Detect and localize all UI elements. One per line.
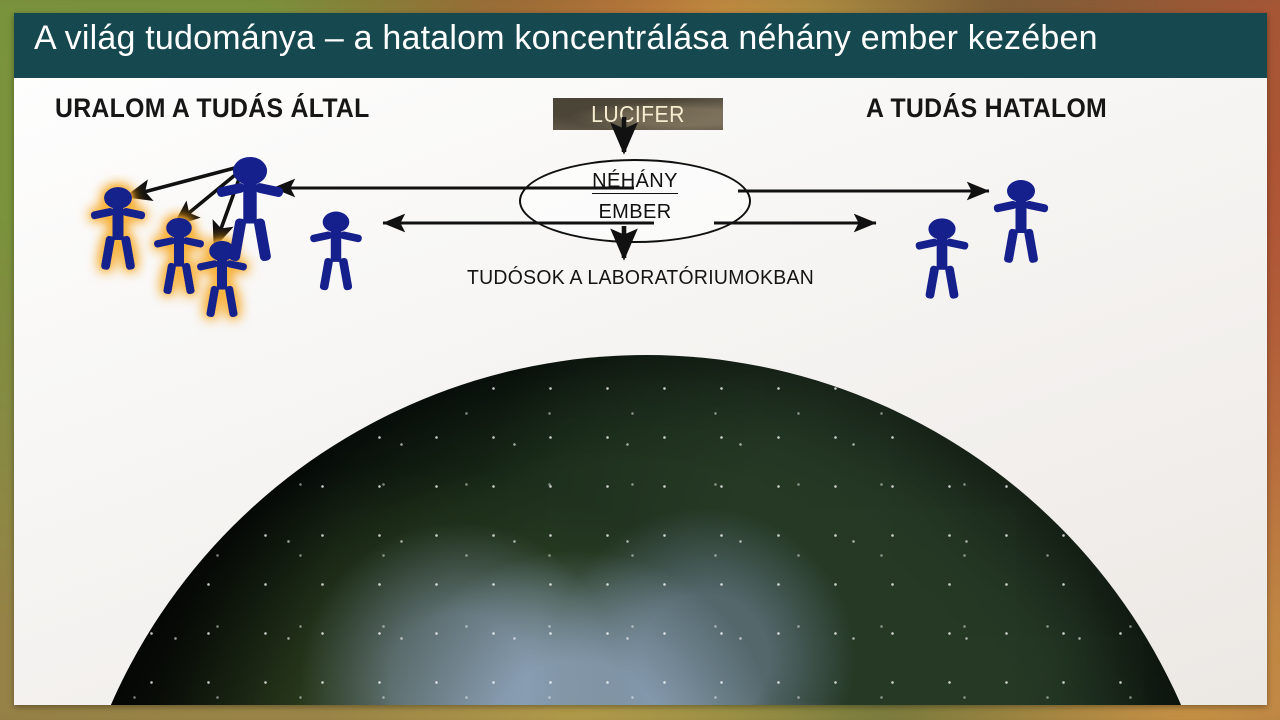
- stick-figure-left-observer: [310, 212, 363, 291]
- diagram-overlay: [14, 13, 1267, 705]
- presentation-slide: A világ tudománya – a hatalom koncentrál…: [14, 13, 1267, 705]
- stick-figure-follower-2: [153, 218, 204, 295]
- stick-figure-right-2: [993, 180, 1049, 263]
- slide-stage: A világ tudománya – a hatalom koncentrál…: [0, 0, 1280, 720]
- stick-figure-right-1: [915, 218, 969, 299]
- stick-figure-follower-1: [90, 187, 146, 270]
- left-highlighted-figure-group: [90, 187, 247, 318]
